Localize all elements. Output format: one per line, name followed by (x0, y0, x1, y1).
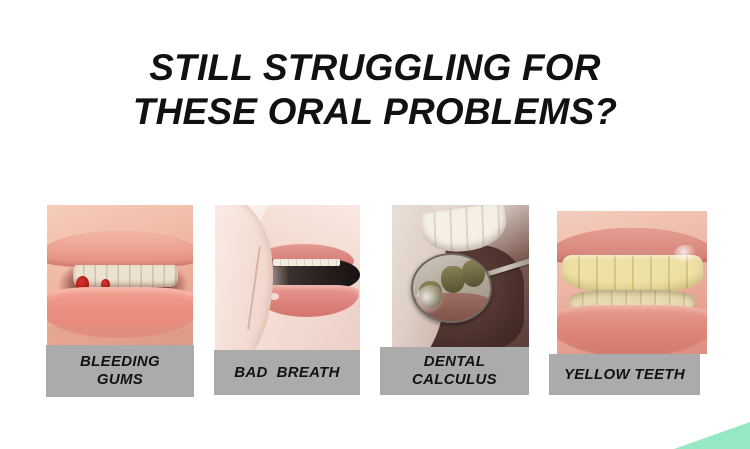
problem-card-dental-calculus: DENTAL CALCULUS (380, 205, 529, 395)
teeth-row-shape (273, 259, 340, 266)
problem-card-bleeding-gums: BLEEDING GUMS (46, 205, 194, 397)
lower-lip-shape (557, 305, 707, 354)
bad-breath-illustration (215, 205, 360, 350)
chin-shadow-shape (47, 327, 193, 347)
tartar-deposit-shape (462, 260, 485, 286)
dental-calculus-photo (392, 205, 529, 347)
teeth-row-shape (73, 265, 178, 288)
green-corner-triangle-icon (674, 422, 750, 449)
yellow-teeth-photo (557, 211, 707, 354)
problem-card-bad-breath: BAD BREATH (214, 205, 360, 395)
dental-calculus-illustration (392, 205, 529, 347)
yellow-teeth-illustration (557, 211, 707, 354)
yellow-teeth-caption: YELLOW TEETH (549, 354, 700, 395)
page-title: STILL STRUGGLING FOR THESE ORAL PROBLEMS… (0, 46, 750, 134)
caption-text: BAD BREATH (234, 364, 340, 382)
bleeding-gums-caption: BLEEDING GUMS (46, 345, 194, 397)
page-title-line-2: THESE ORAL PROBLEMS? (0, 90, 750, 134)
caption-text: DENTAL CALCULUS (412, 353, 497, 389)
caption-text: YELLOW TEETH (564, 366, 685, 384)
dental-calculus-caption: DENTAL CALCULUS (380, 347, 529, 395)
upper-lip-shape (47, 231, 193, 268)
bad-breath-photo (215, 205, 360, 350)
caption-text: BLEEDING GUMS (80, 353, 160, 389)
page-title-line-1: STILL STRUGGLING FOR (0, 46, 750, 90)
bad-breath-caption: BAD BREATH (214, 350, 360, 395)
promo-poster: STILL STRUGGLING FOR THESE ORAL PROBLEMS… (0, 0, 750, 449)
problem-card-yellow-teeth: YELLOW TEETH (549, 205, 707, 395)
bleeding-gums-illustration (47, 205, 193, 347)
dental-mirror-icon (411, 253, 492, 322)
bleeding-gums-photo (47, 205, 193, 347)
